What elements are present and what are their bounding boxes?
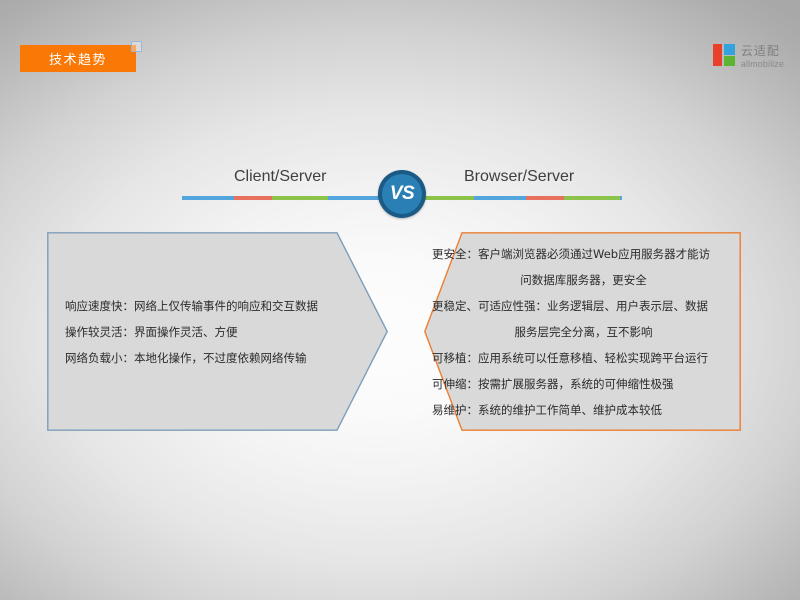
- logo-green-square: [724, 56, 735, 66]
- left-panel-text-block: 响应速度快：网络上仅传输事件的响应和交互数据 操作较灵活：界面操作灵活、方便 网…: [65, 232, 365, 431]
- logo-red-bar: [713, 44, 722, 66]
- left-bullet-1: 响应速度快：网络上仅传输事件的响应和交互数据: [65, 293, 365, 319]
- right-bullet-3: 可移植：应用系统可以任意移植、轻松实现跨平台运行: [432, 345, 735, 371]
- vs-badge-inner: VS: [382, 174, 422, 214]
- slide-title-banner: 技术趋势: [20, 45, 136, 72]
- selection-handle: [131, 41, 142, 52]
- right-bullet-5: 易维护：系统的维护工作简单、维护成本较低: [432, 397, 735, 423]
- brand-logo: 云适配 allmobilize: [713, 44, 784, 69]
- logo-wordmark: 云适配 allmobilize: [741, 44, 784, 69]
- slide-canvas: 技术趋势 云适配 allmobilize Client/Server Brows…: [0, 0, 800, 600]
- vs-badge-label: VS: [390, 183, 414, 205]
- right-bullet-1a: 更安全：客户端浏览器必须通过Web应用服务器才能访: [432, 241, 735, 267]
- comparison-header: Client/Server Browser/Server VS: [182, 168, 622, 218]
- right-bullet-2b: 服务层完全分离，互不影响: [432, 319, 735, 345]
- left-bullet-3: 网络负载小：本地化操作，不过度依赖网络传输: [65, 345, 365, 371]
- left-bullet-2: 操作较灵活：界面操作灵活、方便: [65, 319, 365, 345]
- vs-badge: VS: [378, 170, 426, 218]
- logo-blue-square: [724, 44, 735, 55]
- slide-title-text: 技术趋势: [49, 49, 107, 68]
- client-server-panel: 响应速度快：网络上仅传输事件的响应和交互数据 操作较灵活：界面操作灵活、方便 网…: [47, 232, 388, 431]
- logo-chinese-name: 云适配: [741, 45, 784, 57]
- logo-mark-icon: [713, 44, 735, 66]
- logo-english-name: allmobilize: [741, 60, 784, 69]
- right-bullet-2a: 更稳定、可适应性强：业务逻辑层、用户表示层、数据: [432, 293, 735, 319]
- right-bullet-1b: 问数据库服务器，更安全: [432, 267, 735, 293]
- right-bullet-4: 可伸缩：按需扩展服务器，系统的可伸缩性极强: [432, 371, 735, 397]
- browser-server-panel: 更安全：客户端浏览器必须通过Web应用服务器才能访 问数据库服务器，更安全 更稳…: [424, 232, 741, 431]
- right-panel-text-block: 更安全：客户端浏览器必须通过Web应用服务器才能访 问数据库服务器，更安全 更稳…: [432, 232, 735, 431]
- right-side-label: Browser/Server: [464, 168, 574, 186]
- left-side-label: Client/Server: [234, 168, 326, 186]
